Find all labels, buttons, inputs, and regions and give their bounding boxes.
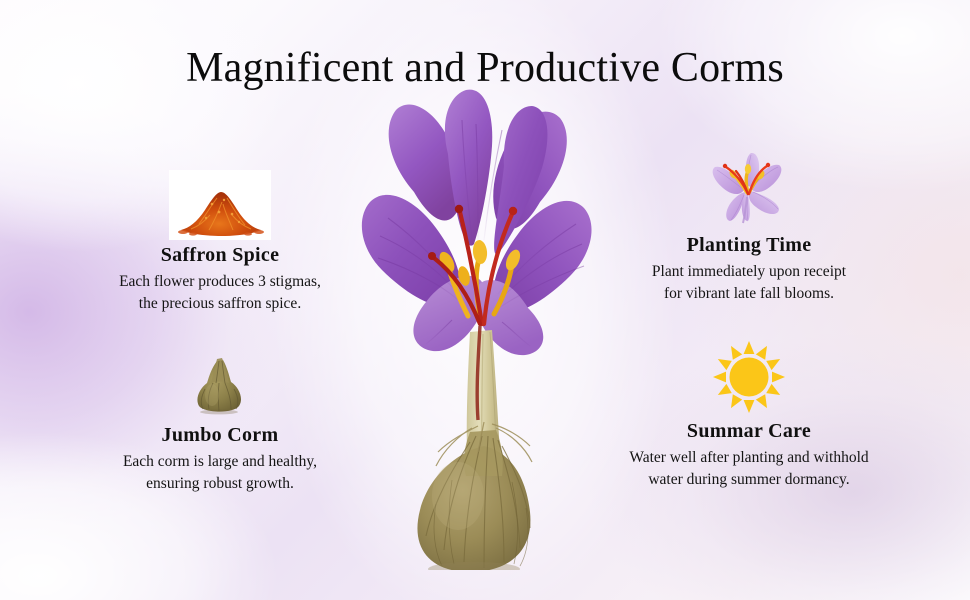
feature-body-line: the precious saffron spice. xyxy=(50,293,390,315)
fibrous-corm-bulb xyxy=(417,422,532,570)
feature-body-line: ensuring robust growth. xyxy=(50,473,390,495)
feature-jumbo-corm: Jumbo Corm Each corm is large and health… xyxy=(50,342,390,495)
feature-title: Summar Care xyxy=(578,418,920,444)
saffron-spice-heap-icon xyxy=(169,170,271,240)
feature-icon-wrap xyxy=(578,338,920,416)
saffron-flower-icon xyxy=(701,149,797,230)
corm-bulb-icon xyxy=(189,353,251,420)
feature-body-line: Plant immediately upon receipt xyxy=(578,261,920,283)
sun-icon xyxy=(706,338,792,416)
page-title: Magnificent and Productive Corms xyxy=(0,42,970,94)
feature-body-line: water during summer dormancy. xyxy=(578,469,920,491)
feature-title: Jumbo Corm xyxy=(50,422,390,448)
feature-body-line: Water well after planting and withhold xyxy=(578,447,920,469)
feature-icon-wrap xyxy=(50,162,390,240)
feature-body: Each flower produces 3 stigmas, the prec… xyxy=(50,271,390,315)
feature-planting-time: Planting Time Plant immediately upon rec… xyxy=(578,152,920,305)
feature-body-line: for vibrant late fall blooms. xyxy=(578,283,920,305)
saffron-crocus-plant-photo xyxy=(352,80,602,570)
infographic-canvas: Magnificent and Productive Corms xyxy=(0,0,970,600)
feature-title: Saffron Spice xyxy=(50,242,390,268)
feature-body-line: Each corm is large and healthy, xyxy=(50,451,390,473)
feature-title: Planting Time xyxy=(578,232,920,258)
feature-icon-wrap xyxy=(50,342,390,420)
feature-body-line: Each flower produces 3 stigmas, xyxy=(50,271,390,293)
feature-summar-care: Summar Care Water well after planting an… xyxy=(578,338,920,491)
feature-body: Each corm is large and healthy, ensuring… xyxy=(50,451,390,495)
feature-saffron-spice: Saffron Spice Each flower produces 3 sti… xyxy=(50,162,390,315)
feature-body: Plant immediately upon receipt for vibra… xyxy=(578,261,920,305)
feature-icon-wrap xyxy=(578,152,920,230)
feature-body: Water well after planting and withhold w… xyxy=(578,447,920,491)
